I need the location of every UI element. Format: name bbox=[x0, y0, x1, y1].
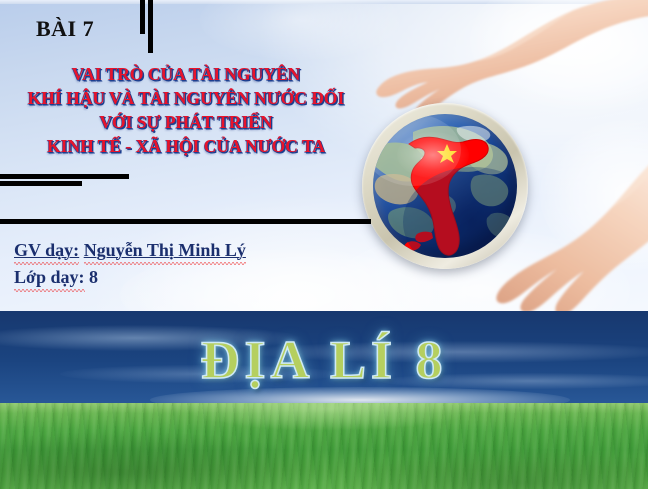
black-accent-bar-horizontal-3 bbox=[0, 219, 371, 224]
black-accent-bar-vertical-2 bbox=[148, 0, 153, 53]
lesson-title-line-3: VỚI SỰ PHÁT TRIỂN bbox=[0, 110, 372, 134]
lesson-number-label: BÀI 7 bbox=[36, 16, 94, 42]
globe-sphere bbox=[373, 114, 517, 258]
black-accent-bar-vertical-1 bbox=[140, 0, 145, 34]
cloud-decoration bbox=[540, 120, 648, 270]
grass-shading bbox=[0, 403, 648, 489]
class-value: 8 bbox=[89, 267, 98, 287]
teacher-info-block: GV dạy: Nguyễn Thị Minh Lý Lớp dạy: 8 bbox=[14, 238, 246, 292]
cloud-decoration bbox=[470, 0, 648, 110]
lesson-title-line-1: VAI TRÒ CỦA TÀI NGUYÊN bbox=[0, 62, 372, 86]
subject-banner-title: ĐỊA LÍ 8 bbox=[0, 329, 648, 391]
teacher-name: Nguyễn Thị Minh Lý bbox=[84, 238, 246, 265]
black-accent-bar-horizontal-1 bbox=[0, 174, 129, 179]
class-line: Lớp dạy: 8 bbox=[14, 265, 246, 292]
lesson-title-line-2: KHÍ HẬU VÀ TÀI NGUYÊN NƯỚC ĐỐI bbox=[0, 86, 372, 110]
black-accent-bar-horizontal-2 bbox=[0, 181, 82, 186]
teacher-name-line: GV dạy: Nguyễn Thị Minh Lý bbox=[14, 238, 246, 265]
teacher-label: GV dạy: bbox=[14, 238, 79, 265]
globe-highlight bbox=[397, 132, 469, 178]
cloud-decoration bbox=[200, 0, 400, 60]
lesson-title-line-4: KINH TẾ - XÃ HỘI CỦA NƯỚC TA bbox=[0, 134, 372, 158]
slide-top-edge bbox=[0, 0, 648, 4]
class-label: Lớp dạy: bbox=[14, 265, 85, 292]
globe-with-vietnam-map-icon bbox=[362, 103, 528, 269]
presentation-slide: BÀI 7 VAI TRÒ CỦA TÀI NGUYÊN KHÍ HẬU VÀ … bbox=[0, 0, 648, 489]
lesson-title: VAI TRÒ CỦA TÀI NGUYÊN KHÍ HẬU VÀ TÀI NG… bbox=[0, 62, 372, 158]
